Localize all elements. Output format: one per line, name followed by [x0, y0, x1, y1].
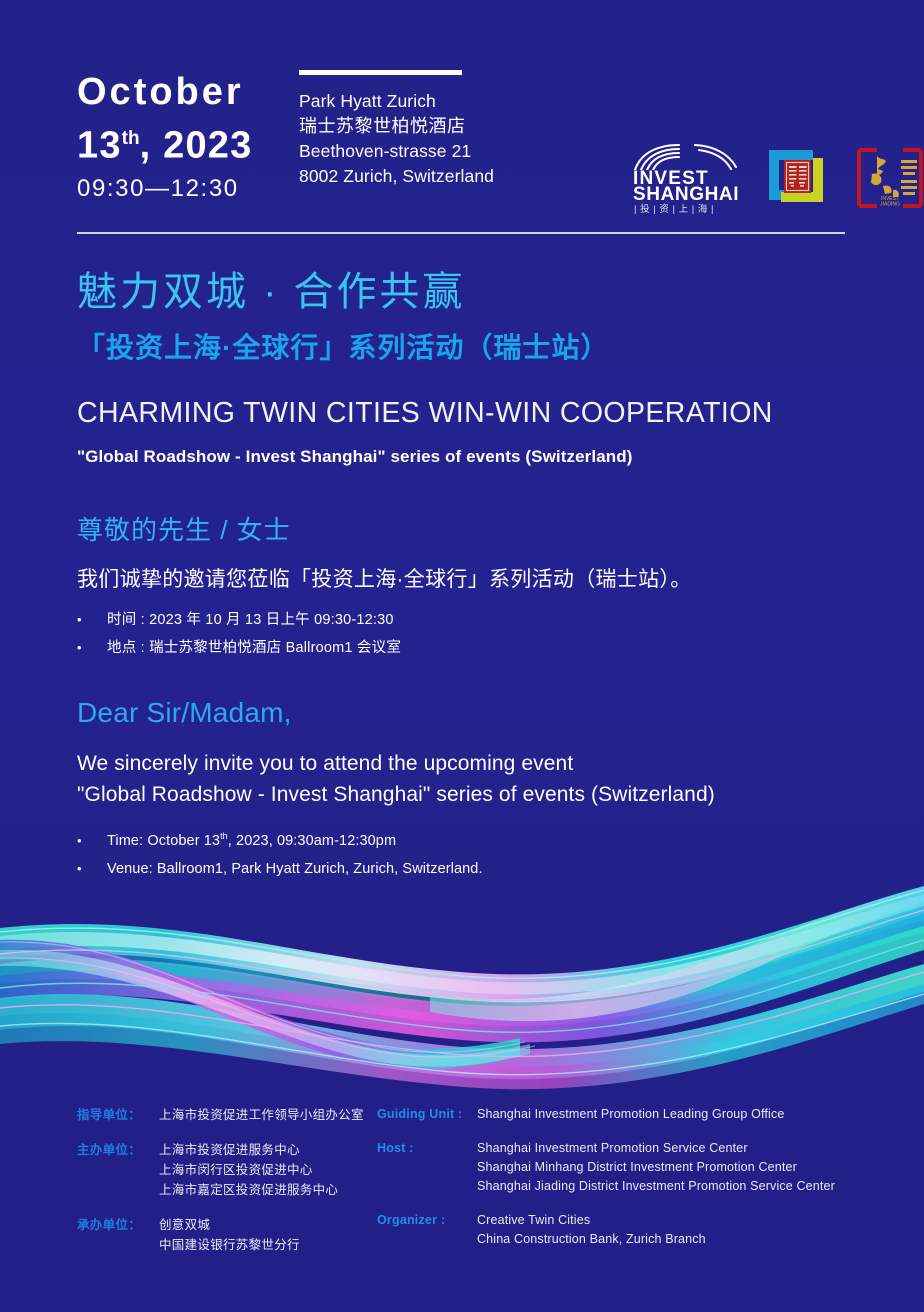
invitation-poster: October 13th, 2023 09:30—12:30 Park Hyat… — [0, 0, 924, 1312]
title-cn-main: 魅力双城 · 合作共赢 — [77, 265, 867, 319]
footer-label-host-en: Host : — [377, 1139, 477, 1196]
bullet-en-time-suffix: , 2023, 09:30am-12:30pm — [228, 833, 396, 849]
footer-row-host-en: Host : Shanghai Investment Promotion Ser… — [377, 1139, 877, 1196]
title-en-main: CHARMING TWIN CITIES WIN-WIN COOPERATION — [77, 394, 867, 432]
footer-label-guiding-en: Guiding Unit : — [377, 1105, 477, 1124]
bullet-en-time-ordinal: th — [220, 831, 228, 841]
footer-column-cn: 指导单位： 上海市投资促进工作领导小组办公室 主办单位： 上海市投资促进服务中心… — [77, 1105, 397, 1255]
venue-line-city: 8002 Zurich, Switzerland — [299, 164, 599, 189]
footer-value-organizer-en: Creative Twin Cities China Construction … — [477, 1211, 706, 1249]
event-day: 13 — [77, 125, 122, 167]
footer-label-guiding-cn: 指导单位： — [77, 1105, 159, 1125]
event-date-block: October 13th, 2023 09:30—12:30 — [77, 70, 287, 205]
footer-value-line: Shanghai Jiading District Investment Pro… — [477, 1177, 835, 1196]
bullet-en-time-text: Time: October 13th, 2023, 09:30am-12:30p… — [107, 822, 396, 855]
salutation-cn: 尊敬的先生 / 女士 — [77, 512, 867, 548]
header-divider — [77, 232, 845, 234]
footer-value-line: 上海市嘉定区投资促进服务中心 — [159, 1180, 338, 1200]
footer-row-organizer-cn: 承办单位： 创意双城 中国建设银行苏黎世分行 — [77, 1215, 397, 1255]
bullet-cn-time-text: 时间 : 2023 年 10 月 13 日上午 09:30-12:30 — [107, 607, 394, 634]
invest-shanghai-arc-icon — [633, 144, 743, 170]
body-english: Dear Sir/Madam, We sincerely invite you … — [77, 694, 897, 883]
bullet-dot-icon: • — [77, 827, 107, 855]
bullet-en-time: • Time: October 13th, 2023, 09:30am-12:3… — [77, 822, 897, 855]
salutation-en: Dear Sir/Madam, — [77, 694, 897, 732]
footer-value-organizer-cn: 创意双城 中国建设银行苏黎世分行 — [159, 1215, 300, 1255]
footer-label-organizer-cn: 承办单位： — [77, 1215, 159, 1255]
bullet-cn-time: • 时间 : 2023 年 10 月 13 日上午 09:30-12:30 — [77, 606, 867, 634]
paragraph-en-line1: We sincerely invite you to attend the up… — [77, 748, 897, 779]
footer-value-guiding-cn: 上海市投资促进工作领导小组办公室 — [159, 1105, 364, 1125]
bullet-en-venue-text: Venue: Ballroom1, Park Hyatt Zurich, Zur… — [107, 855, 483, 883]
poster-header: October 13th, 2023 09:30—12:30 Park Hyat… — [77, 70, 847, 210]
minhang-invest-logo — [761, 146, 831, 210]
bullet-en-time-prefix: Time: October 13 — [107, 833, 220, 849]
event-time-range: 09:30—12:30 — [77, 173, 287, 205]
bullet-dot-icon: • — [77, 855, 107, 883]
event-month: October — [77, 70, 287, 114]
footer-row-host-cn: 主办单位： 上海市投资促进服务中心 上海市闵行区投资促进中心 上海市嘉定区投资促… — [77, 1140, 397, 1200]
footer-value-line: Creative Twin Cities — [477, 1211, 706, 1230]
body-chinese: 尊敬的先生 / 女士 我们诚挚的邀请您莅临「投资上海·全球行」系列活动（瑞士站）… — [77, 512, 867, 662]
footer-value-host-en: Shanghai Investment Promotion Service Ce… — [477, 1139, 835, 1196]
invest-jiading-caption2: JIADING — [880, 202, 900, 208]
footer-value-line: 创意双城 — [159, 1215, 300, 1235]
footer-row-organizer-en: Organizer : Creative Twin Cities China C… — [377, 1211, 877, 1249]
footer-value-line: 上海市闵行区投资促进中心 — [159, 1160, 338, 1180]
footer-value-host-cn: 上海市投资促进服务中心 上海市闵行区投资促进中心 上海市嘉定区投资促进服务中心 — [159, 1140, 338, 1200]
invest-jiading-logo: INVEST JIADING — [853, 146, 924, 210]
bullet-dot-icon: • — [77, 634, 107, 661]
bullet-list-cn: • 时间 : 2023 年 10 月 13 日上午 09:30-12:30 • … — [77, 606, 867, 662]
venue-rule — [299, 70, 462, 75]
bullet-list-en: • Time: October 13th, 2023, 09:30am-12:3… — [77, 822, 897, 883]
footer-value-line: 上海市投资促进工作领导小组办公室 — [159, 1105, 364, 1125]
event-day-ordinal: th — [122, 128, 140, 149]
venue-line-street: Beethoven-strasse 21 — [299, 139, 599, 164]
venue-line-hotel: Park Hyatt Zurich — [299, 89, 599, 114]
wave-svg — [0, 880, 924, 1100]
event-day-year: 13th, 2023 — [77, 116, 287, 169]
footer-value-line: Shanghai Investment Promotion Service Ce… — [477, 1139, 835, 1158]
footer-column-en: Guiding Unit : Shanghai Investment Promo… — [377, 1105, 877, 1249]
invest-shanghai-logo: INVEST SHANGHAI | 投 | 资 | 上 | 海 | — [633, 144, 743, 210]
paragraph-cn: 我们诚挚的邀请您莅临「投资上海·全球行」系列活动（瑞士站）。 — [77, 564, 867, 596]
footer-value-guiding-en: Shanghai Investment Promotion Leading Gr… — [477, 1105, 784, 1124]
bullet-cn-venue: • 地点 : 瑞士苏黎世柏悦酒店 Ballroom1 会议室 — [77, 634, 867, 662]
title-cn-sub: 「投资上海·全球行」系列活动（瑞士站） — [77, 327, 867, 369]
footer-value-line: Shanghai Minhang District Investment Pro… — [477, 1158, 835, 1177]
bullet-dot-icon: • — [77, 606, 107, 633]
footer-row-guiding-en: Guiding Unit : Shanghai Investment Promo… — [377, 1105, 877, 1124]
venue-line-hotel-cn: 瑞士苏黎世柏悦酒店 — [299, 114, 599, 139]
bullet-cn-venue-text: 地点 : 瑞士苏黎世柏悦酒店 Ballroom1 会议室 — [107, 635, 401, 662]
bullet-en-venue: • Venue: Ballroom1, Park Hyatt Zurich, Z… — [77, 855, 897, 883]
footer-value-line: Shanghai Investment Promotion Leading Gr… — [477, 1105, 784, 1124]
title-block: 魅力双城 · 合作共赢 「投资上海·全球行」系列活动（瑞士站） CHARMING… — [77, 265, 867, 470]
paragraph-en-line2: "Global Roadshow - Invest Shanghai" seri… — [77, 779, 897, 810]
logo-row: INVEST SHANGHAI | 投 | 资 | 上 | 海 | — [633, 72, 924, 172]
footer-row-guiding-cn: 指导单位： 上海市投资促进工作领导小组办公室 — [77, 1105, 397, 1125]
event-year: , 2023 — [140, 125, 253, 167]
decorative-wave-graphic — [0, 880, 924, 1100]
venue-block: Park Hyatt Zurich 瑞士苏黎世柏悦酒店 Beethoven-st… — [299, 70, 599, 189]
title-en-sub: "Global Roadshow - Invest Shanghai" seri… — [77, 444, 867, 470]
footer-value-line: China Construction Bank, Zurich Branch — [477, 1230, 706, 1249]
invest-shanghai-line3: | 投 | 资 | 上 | 海 | — [634, 201, 714, 215]
footer-value-line: 中国建设银行苏黎世分行 — [159, 1235, 300, 1255]
footer-value-line: 上海市投资促进服务中心 — [159, 1140, 338, 1160]
footer-label-host-cn: 主办单位： — [77, 1140, 159, 1200]
footer-label-organizer-en: Organizer : — [377, 1211, 477, 1249]
